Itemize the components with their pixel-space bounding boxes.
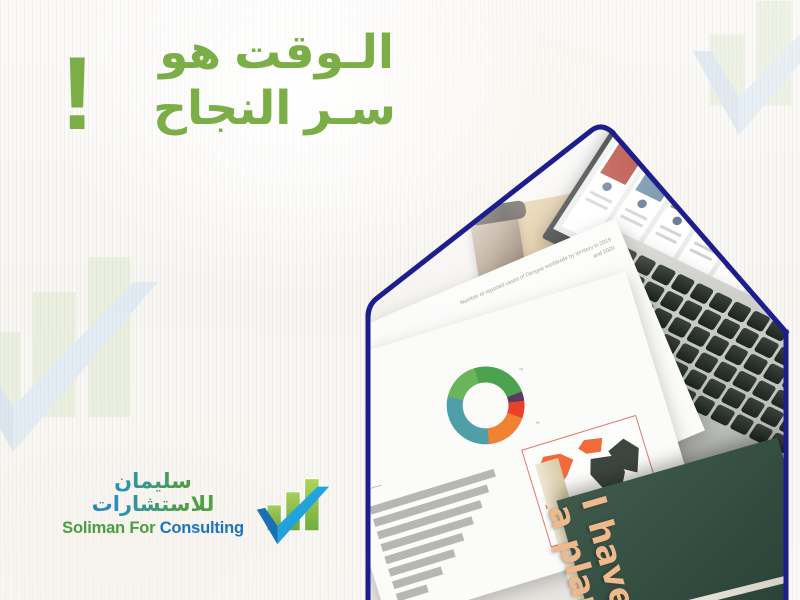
brand-logo[interactable]: سليمان للاستشارات Soliman For Consulting — [62, 466, 334, 552]
brand-name-english: Soliman For Consulting — [62, 519, 244, 538]
promo-canvas: الـوقت هو سـر النجاح ! — [0, 0, 800, 600]
bar-chart-checkmark-watermark-icon — [0, 257, 158, 452]
brand-name-english-first: Soliman For — [62, 519, 160, 537]
brand-logo-mark — [252, 466, 334, 550]
report-gray-chart-labels: ▁▁▁▁▁▁ — [359, 480, 382, 492]
brand-name-english-second: Consulting — [160, 519, 244, 537]
donut-label: % — [519, 366, 524, 372]
map-region-europe — [576, 435, 606, 458]
bar-chart-checkmark-icon — [257, 478, 329, 544]
headline-exclamation: ! — [60, 42, 95, 146]
left-logo-watermark — [0, 222, 188, 472]
brand-logo-text: سليمان للاستشارات Soliman For Consulting — [62, 470, 244, 538]
photo-clip: Number of reported cases of Dengue world… — [352, 118, 800, 600]
report-gray-bar-chart — [369, 467, 527, 600]
brand-name-arabic: سليمان للاستشارات — [62, 470, 244, 516]
donut-label: % — [535, 420, 540, 426]
photo-frame: Number of reported cases of Dengue world… — [352, 118, 800, 600]
photo-scene: Number of reported cases of Dengue world… — [352, 118, 800, 600]
bar-chart-checkmark-watermark-icon — [693, 0, 800, 135]
